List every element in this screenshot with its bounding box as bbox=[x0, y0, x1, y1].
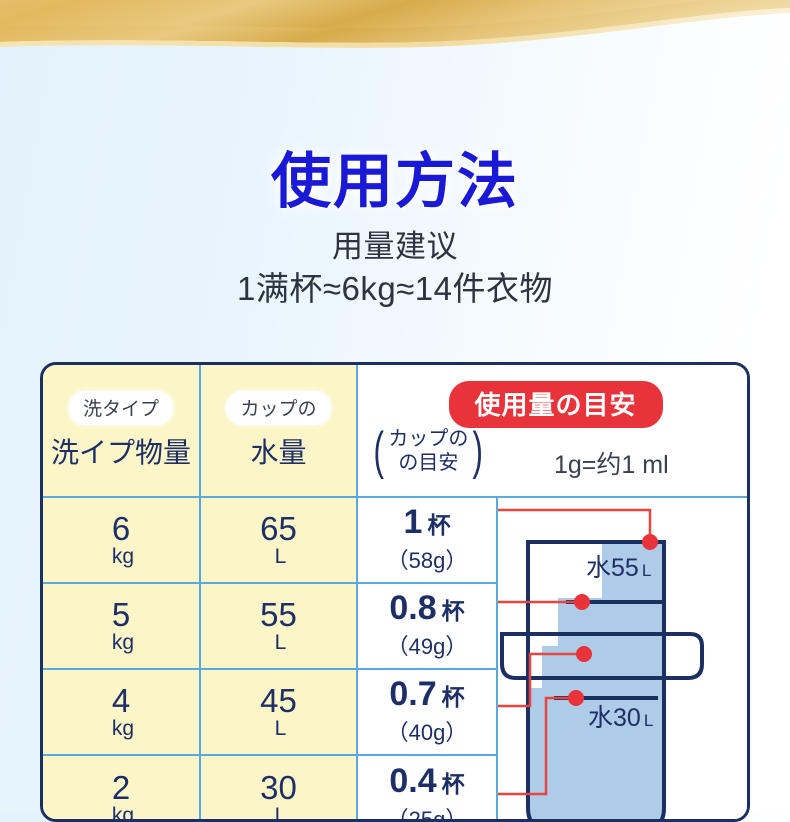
water-unit: L bbox=[275, 804, 287, 822]
load-value: 6 bbox=[112, 512, 130, 545]
cup-value: 1 bbox=[404, 505, 423, 539]
header-label-water: 水量 bbox=[250, 431, 306, 471]
cup-grams: （25g） bbox=[387, 802, 468, 822]
paren-open-icon: ( bbox=[373, 430, 383, 473]
dosage-table: 洗タイプ 洗イプ物量 カップの 水量 使用量の目安 ( カップの の目安 ) 1… bbox=[40, 362, 750, 822]
subtitle-line-2: 1满杯≈6kg≈14件衣物 bbox=[0, 268, 790, 310]
header-label-load: 洗イプ物量 bbox=[51, 431, 191, 471]
table-row: 0.4 杯 （25g） bbox=[358, 756, 498, 822]
page-title: 使用方法 bbox=[0, 150, 790, 213]
paren-close-icon: ) bbox=[473, 430, 483, 473]
cup-grams: （58g） bbox=[387, 543, 468, 575]
load-unit: kg bbox=[112, 717, 134, 741]
load-value: 5 bbox=[112, 598, 130, 631]
cup-unit: 杯 bbox=[427, 514, 450, 537]
load-unit: kg bbox=[112, 545, 134, 569]
usage-paren-line-1: カップの bbox=[388, 428, 468, 450]
water-unit: L bbox=[275, 545, 287, 569]
load-unit: kg bbox=[112, 804, 134, 822]
marker-dot bbox=[568, 690, 584, 706]
marker-dot bbox=[576, 646, 592, 662]
water-value: 55 bbox=[260, 598, 297, 631]
cup-grams: （40g） bbox=[387, 715, 468, 747]
water-value: 65 bbox=[260, 512, 297, 545]
table-row: 5kg bbox=[43, 584, 201, 670]
usage-paren-note: ( カップの の目安 ) bbox=[370, 427, 487, 476]
diagram-label-low: 水30L bbox=[588, 698, 653, 734]
table-row: 30L bbox=[201, 756, 358, 822]
table-row: 2kg bbox=[43, 756, 201, 822]
header-cell-water: カップの 水量 bbox=[201, 365, 358, 498]
measuring-cup-diagram: 水55L 水30L bbox=[498, 498, 750, 822]
table-row: 45L bbox=[201, 670, 358, 756]
table-row: 6kg bbox=[43, 498, 201, 584]
water-value: 45 bbox=[260, 684, 297, 717]
ribbon-main-band bbox=[0, 0, 790, 43]
top-gold-ribbon bbox=[0, 0, 790, 70]
cup-unit: 杯 bbox=[442, 686, 465, 709]
usage-equivalence: 1g=约1 ml bbox=[554, 445, 669, 481]
header-pill-water: カップの bbox=[226, 391, 330, 425]
table-row: 4kg bbox=[43, 670, 201, 756]
ribbon-highlight-edge bbox=[0, 8, 790, 48]
cup-value: 0.7 bbox=[389, 677, 436, 711]
cup-unit: 杯 bbox=[442, 600, 465, 623]
table-row: 1 杯 （58g） bbox=[358, 498, 498, 584]
usage-paren-line-2: の目安 bbox=[398, 452, 458, 474]
water-unit: L bbox=[275, 717, 287, 741]
subtitle-line-1: 用量建议 bbox=[0, 227, 790, 268]
load-unit: kg bbox=[112, 631, 134, 655]
header-pill-load: 洗タイプ bbox=[69, 391, 173, 425]
load-value: 2 bbox=[112, 771, 130, 804]
header-cell-load: 洗タイプ 洗イプ物量 bbox=[43, 365, 201, 498]
water-value: 30 bbox=[260, 771, 297, 804]
table-row: 0.8 杯 （49g） bbox=[358, 584, 498, 670]
water-fill-shapes bbox=[528, 542, 664, 822]
cup-value: 0.4 bbox=[389, 764, 436, 798]
cup-unit: 杯 bbox=[442, 773, 465, 796]
table-row: 55L bbox=[201, 584, 358, 670]
water-unit: L bbox=[275, 631, 287, 655]
title-block: 使用方法 用量建议 1满杯≈6kg≈14件衣物 bbox=[0, 150, 790, 310]
cup-grams: （49g） bbox=[387, 629, 468, 661]
header-cell-usage: 使用量の目安 ( カップの の目安 ) 1g=约1 ml bbox=[358, 365, 750, 498]
usage-badge: 使用量の目安 bbox=[448, 381, 662, 428]
marker-dot bbox=[574, 594, 590, 610]
ribbon-upper-band bbox=[0, 0, 790, 37]
table-row: 0.7 杯 （40g） bbox=[358, 670, 498, 756]
diagram-label-high: 水55L bbox=[586, 548, 651, 584]
load-value: 4 bbox=[112, 684, 130, 717]
cup-value: 0.8 bbox=[389, 591, 436, 625]
table-row: 65L bbox=[201, 498, 358, 584]
